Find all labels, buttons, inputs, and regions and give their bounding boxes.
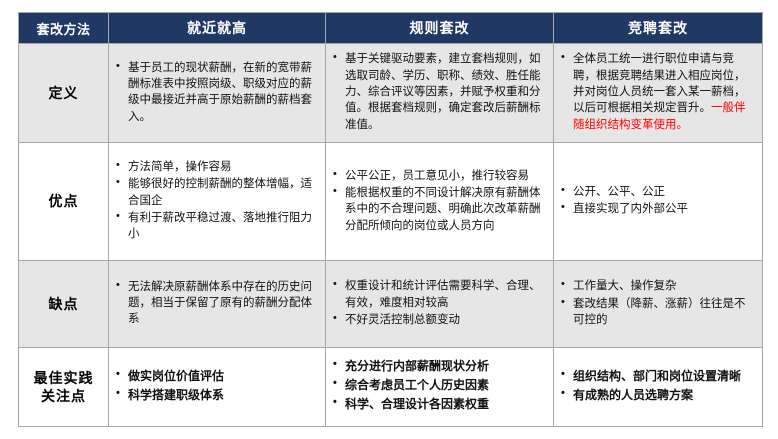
table-row: 优点 方法简单，操作容易 能够很好的控制薪酬的整体增幅，适合国企 有利于薪改平稳… bbox=[19, 142, 763, 261]
comparison-matrix-table: 套改方法 就近就高 规则套改 竞聘套改 定义 基于员工的现状薪酬，在新的宽带薪酬… bbox=[18, 12, 763, 427]
table-row: 定义 基于员工的现状薪酬，在新的宽带薪酬标准表中按照岗级、职级对应的薪级中最接近… bbox=[19, 44, 763, 143]
list-item-text: 无法解决原薪酬体系中存在的历史问题，相当于保留了原有的薪酬分配体系 bbox=[128, 281, 312, 326]
list-item: 无法解决原薪酬体系中存在的历史问题，相当于保留了原有的薪酬分配体系 bbox=[115, 279, 318, 328]
list-item: 直接实现了内外部公平 bbox=[560, 201, 755, 217]
row-label-definition: 定义 bbox=[19, 44, 109, 143]
bullet-list: 组织结构、部门和岗位设置清晰 有成熟的人员选聘方案 bbox=[560, 368, 755, 404]
cell-best-practice-option-1: 做实岗位价值评估 科学搭建职级体系 bbox=[109, 347, 326, 426]
list-item: 科学搭建职级体系 bbox=[115, 387, 318, 404]
list-item: 能根据权重的不同设计解决原有薪酬体系中的不合理问题、明确此次改革薪酬分配所倾向的… bbox=[332, 185, 546, 234]
list-item: 基于关键驱动要素，建立套档规则，如选取司龄、学历、职称、绩效、胜任能力、综合评议… bbox=[332, 51, 546, 133]
bullet-list: 无法解决原薪酬体系中存在的历史问题，相当于保留了原有的薪酬分配体系 bbox=[115, 279, 318, 328]
bullet-list: 做实岗位价值评估 科学搭建职级体系 bbox=[115, 368, 318, 404]
list-item: 公开、公平、公正 bbox=[560, 184, 755, 200]
table-header: 套改方法 就近就高 规则套改 竞聘套改 bbox=[19, 13, 763, 44]
list-item-text: 有利于薪改平稳过渡、落地推行阻力小 bbox=[128, 212, 312, 240]
list-item: 权重设计和统计评估需要科学、合理、有效，难度相对较高 bbox=[332, 278, 546, 311]
cell-advantages-option-2: 公平公正，员工意见小，推行较容易 能根据权重的不同设计解决原有薪酬体系中的不合理… bbox=[326, 142, 554, 261]
bullet-list: 公开、公平、公正 直接实现了内外部公平 bbox=[560, 184, 755, 218]
list-item: 科学、合理设计各因素权重 bbox=[332, 396, 546, 413]
header-cell-option-2: 规则套改 bbox=[326, 13, 554, 44]
cell-best-practice-option-3: 组织结构、部门和岗位设置清晰 有成熟的人员选聘方案 bbox=[554, 347, 763, 426]
list-item-text: 公平公正，员工意见小，推行较容易 bbox=[345, 170, 529, 182]
header-cell-option-3: 竞聘套改 bbox=[554, 13, 763, 44]
row-label-disadvantages: 缺点 bbox=[19, 261, 109, 347]
list-item: 套改结果（降薪、涨薪）往往是不可控的 bbox=[560, 296, 755, 329]
cell-advantages-option-3: 公开、公平、公正 直接实现了内外部公平 bbox=[554, 142, 763, 261]
list-item: 方法简单，操作容易 bbox=[115, 159, 318, 175]
header-row: 套改方法 就近就高 规则套改 竞聘套改 bbox=[19, 13, 763, 44]
list-item-text: 套改结果（降薪、涨薪）往往是不可控的 bbox=[573, 298, 746, 326]
cell-definition-option-2: 基于关键驱动要素，建立套档规则，如选取司龄、学历、职称、绩效、胜任能力、综合评议… bbox=[326, 44, 554, 143]
list-item-text: 不好灵活控制总额变动 bbox=[345, 314, 460, 326]
list-item-text: 基于关键驱动要素，建立套档规则，如选取司龄、学历、职称、绩效、胜任能力、综合评议… bbox=[345, 53, 541, 130]
cell-disadvantages-option-3: 工作量大、操作复杂 套改结果（降薪、涨薪）往往是不可控的 bbox=[554, 261, 763, 347]
table-row: 缺点 无法解决原薪酬体系中存在的历史问题，相当于保留了原有的薪酬分配体系 权重设… bbox=[19, 261, 763, 347]
cell-advantages-option-1: 方法简单，操作容易 能够很好的控制薪酬的整体增幅，适合国企 有利于薪改平稳过渡、… bbox=[109, 142, 326, 261]
list-item-text: 科学、合理设计各因素权重 bbox=[345, 397, 489, 411]
list-item: 工作量大、操作复杂 bbox=[560, 278, 755, 294]
list-item-text: 综合考虑员工个人历史因素 bbox=[345, 378, 489, 392]
cell-best-practice-option-2: 充分进行内部薪酬现状分析 综合考虑员工个人历史因素 科学、合理设计各因素权重 bbox=[326, 347, 554, 426]
list-item-text: 能根据权重的不同设计解决原有薪酬体系中的不合理问题、明确此次改革薪酬分配所倾向的… bbox=[345, 187, 541, 232]
list-item-text: 基于员工的现状薪酬，在新的宽带薪酬标准表中按照岗级、职级对应的薪级中最接近并高于… bbox=[128, 62, 312, 123]
cell-disadvantages-option-2: 权重设计和统计评估需要科学、合理、有效，难度相对较高 不好灵活控制总额变动 bbox=[326, 261, 554, 347]
list-item-text: 科学搭建职级体系 bbox=[128, 388, 224, 402]
list-item: 能够很好的控制薪酬的整体增幅，适合国企 bbox=[115, 176, 318, 209]
cell-disadvantages-option-1: 无法解决原薪酬体系中存在的历史问题，相当于保留了原有的薪酬分配体系 bbox=[109, 261, 326, 347]
list-item: 做实岗位价值评估 bbox=[115, 368, 318, 385]
bullet-list: 基于关键驱动要素，建立套档规则，如选取司龄、学历、职称、绩效、胜任能力、综合评议… bbox=[332, 51, 546, 133]
list-item-text: 权重设计和统计评估需要科学、合理、有效，难度相对较高 bbox=[345, 280, 541, 308]
bullet-list: 公平公正，员工意见小，推行较容易 能根据权重的不同设计解决原有薪酬体系中的不合理… bbox=[332, 168, 546, 234]
list-item: 公平公正，员工意见小，推行较容易 bbox=[332, 168, 546, 184]
list-item: 有成熟的人员选聘方案 bbox=[560, 387, 755, 404]
bullet-list: 工作量大、操作复杂 套改结果（降薪、涨薪）往往是不可控的 bbox=[560, 278, 755, 328]
row-label-line-2: 关注点 bbox=[21, 387, 106, 405]
list-item: 组织结构、部门和岗位设置清晰 bbox=[560, 368, 755, 385]
list-item-text: 充分进行内部薪酬现状分析 bbox=[345, 359, 489, 373]
row-label-best-practice: 最佳实践 关注点 bbox=[19, 347, 109, 426]
bullet-list: 权重设计和统计评估需要科学、合理、有效，难度相对较高 不好灵活控制总额变动 bbox=[332, 278, 546, 328]
cell-definition-option-1: 基于员工的现状薪酬，在新的宽带薪酬标准表中按照岗级、职级对应的薪级中最接近并高于… bbox=[109, 44, 326, 143]
list-item: 基于员工的现状薪酬，在新的宽带薪酬标准表中按照岗级、职级对应的薪级中最接近并高于… bbox=[115, 60, 318, 125]
list-item-text: 做实岗位价值评估 bbox=[128, 369, 224, 383]
cell-definition-option-3: 全体员工统一进行职位申请与竞聘，根据竞聘结果进入相应岗位，并对岗位人员统一套入某… bbox=[554, 44, 763, 143]
list-item-text: 方法简单，操作容易 bbox=[128, 161, 232, 173]
slide-canvas: 套改方法 就近就高 规则套改 竞聘套改 定义 基于员工的现状薪酬，在新的宽带薪酬… bbox=[0, 0, 778, 439]
list-item: 有利于薪改平稳过渡、落地推行阻力小 bbox=[115, 210, 318, 243]
list-item: 充分进行内部薪酬现状分析 bbox=[332, 358, 546, 375]
list-item-text: 有成熟的人员选聘方案 bbox=[573, 388, 693, 402]
table-body: 定义 基于员工的现状薪酬，在新的宽带薪酬标准表中按照岗级、职级对应的薪级中最接近… bbox=[19, 44, 763, 427]
bullet-list: 方法简单，操作容易 能够很好的控制薪酬的整体增幅，适合国企 有利于薪改平稳过渡、… bbox=[115, 159, 318, 243]
list-item: 综合考虑员工个人历史因素 bbox=[332, 377, 546, 394]
row-label-advantages: 优点 bbox=[19, 142, 109, 261]
bullet-list: 充分进行内部薪酬现状分析 综合考虑员工个人历史因素 科学、合理设计各因素权重 bbox=[332, 358, 546, 413]
list-item-text: 工作量大、操作复杂 bbox=[573, 280, 677, 292]
list-item-text: 公开、公平、公正 bbox=[573, 186, 665, 198]
header-cell-method: 套改方法 bbox=[19, 13, 109, 44]
list-item: 不好灵活控制总额变动 bbox=[332, 312, 546, 328]
list-item-text: 直接实现了内外部公平 bbox=[573, 203, 688, 215]
row-label-line-1: 最佳实践 bbox=[21, 369, 106, 387]
table-row: 最佳实践 关注点 做实岗位价值评估 科学搭建职级体系 充分进行内部薪酬现状分析 … bbox=[19, 347, 763, 426]
header-cell-option-1: 就近就高 bbox=[109, 13, 326, 44]
bullet-list: 基于员工的现状薪酬，在新的宽带薪酬标准表中按照岗级、职级对应的薪级中最接近并高于… bbox=[115, 60, 318, 125]
list-item-text: 能够很好的控制薪酬的整体增幅，适合国企 bbox=[128, 178, 312, 206]
list-item-text: 组织结构、部门和岗位设置清晰 bbox=[573, 369, 741, 383]
bullet-list: 全体员工统一进行职位申请与竞聘，根据竞聘结果进入相应岗位，并对岗位人员统一套入某… bbox=[560, 51, 755, 133]
list-item: 全体员工统一进行职位申请与竞聘，根据竞聘结果进入相应岗位，并对岗位人员统一套入某… bbox=[560, 51, 755, 133]
